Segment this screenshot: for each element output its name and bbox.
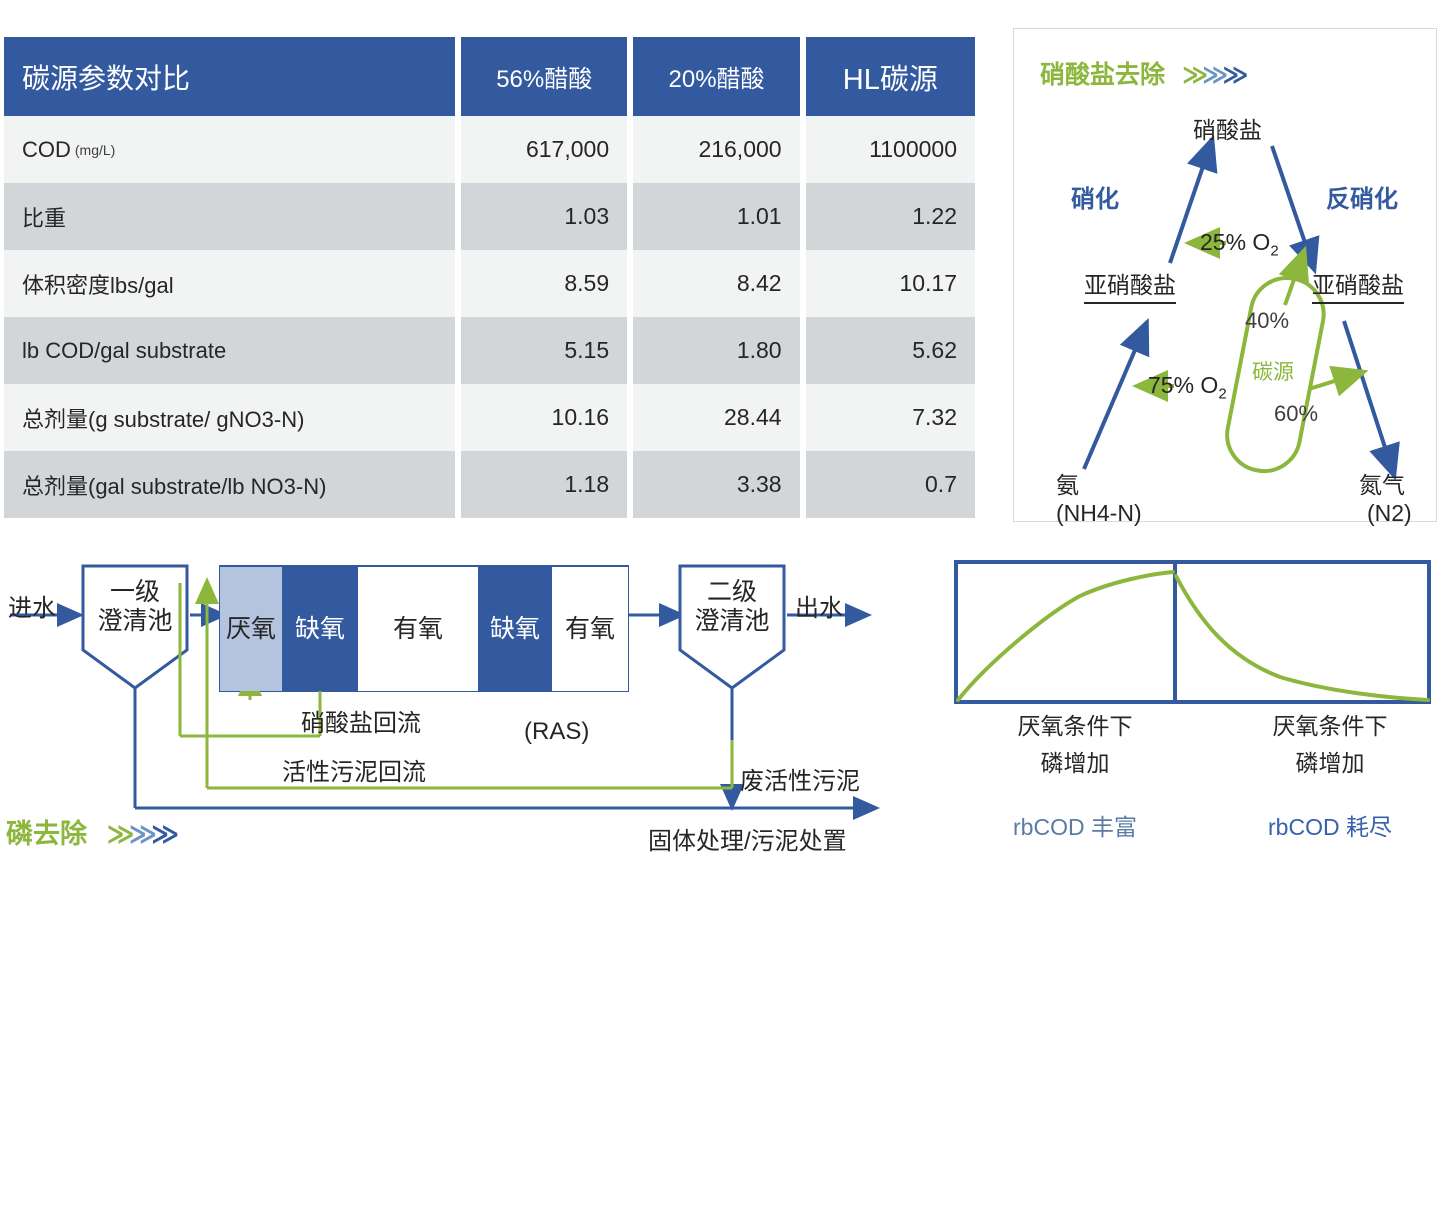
row-label-text: lb COD/gal substrate [22,338,226,364]
tank-aerobic-1: 有氧 [358,567,478,691]
table-row: 比重 1.03 1.01 1.22 [4,183,975,250]
table-header-col-2: HL碳源 [806,37,975,116]
nitrate-removal-panel: 硝酸盐去除 ≫≫≫ 硝酸盐 硝化 反硝化 亚硝酸 [1013,28,1437,522]
cell-value: 7.32 [806,384,975,451]
phosphorus-removal-title: 磷去除 ≫≫≫ [6,812,173,851]
label-influent: 进水 [8,588,56,623]
chart-caption-left-line1: 厌氧条件下 [975,708,1175,745]
row-label: 总剂量(g substrate/ gNO3-N) [4,384,455,451]
table-row: 总剂量(g substrate/ gNO3-N) 10.16 28.44 7.3… [4,384,975,451]
table-header-col-1: 20%醋酸 [633,37,799,116]
cell-value: 216,000 [633,116,799,183]
primary-clarifier-line2: 澄清池 [85,607,185,636]
chevron-group-icon: ≫≫≫ [107,819,174,850]
table-header-row: 碳源参数对比 56%醋酸 20%醋酸 HL碳源 [4,37,975,116]
node-nitrite-right: 亚硝酸盐 [1312,266,1404,304]
phosphorus-concentration-chart: 磷浓度 mg/L 厌氧条件下 磷增加 厌氧条件下 磷增加 rbCOD 丰富 rb… [900,540,1449,913]
carbon-percent-bottom: 60% [1274,401,1318,427]
tank-label: 有氧 [393,615,443,643]
table-row: 体积密度lbs/gal 8.59 8.42 10.17 [4,250,975,317]
tank-label: 缺氧 [490,615,540,643]
oxygen-fraction-top-text: 25% O [1200,229,1270,255]
label-ras: 活性污泥回流 [282,752,426,787]
chart-caption-right-line1: 厌氧条件下 [1230,708,1430,745]
oxygen-fraction-top: 25% O2 [1200,229,1279,260]
secondary-clarifier-label: 二级 澄清池 [682,578,782,636]
cell-value: 10.17 [806,250,975,317]
cell-value: 1100000 [806,116,975,183]
chevron-icon: ≫ [129,819,151,849]
row-label-text: 体积密度lbs/gal [22,268,174,300]
chart-caption-left-line2: 磷增加 [975,745,1175,782]
table-row: 总剂量(gal substrate/lb NO3-N) 1.18 3.38 0.… [4,451,975,518]
table-row: lb COD/gal substrate 5.15 1.80 5.62 [4,317,975,384]
cell-value: 1.22 [806,183,975,250]
oxygen-fraction-bottom: 75% O2 [1148,372,1227,403]
chart-sublabel-left: rbCOD 丰富 [975,808,1175,842]
tank-label: 厌氧 [226,615,276,643]
node-nitrate: 硝酸盐 [1193,111,1262,145]
oxygen-fraction-bottom-text: 75% O [1148,372,1218,398]
label-denitrification: 反硝化 [1326,179,1398,214]
secondary-clarifier-line2: 澄清池 [682,607,782,636]
node-nitrogen: 氮气 [1359,466,1405,500]
oxygen-subscript: 2 [1270,243,1278,260]
label-ras-abbr: (RAS) [524,718,589,746]
label-carbon-source: 碳源 [1252,356,1294,386]
cell-value: 10.16 [461,384,627,451]
tank-aerobic-2: 有氧 [552,567,628,691]
row-label-text: 比重 [22,201,66,233]
cell-value: 28.44 [633,384,799,451]
row-label-text: 总剂量(g substrate/ gNO3-N) [22,402,304,434]
chart-caption-right: 厌氧条件下 磷增加 [1230,708,1430,782]
node-ammonia-formula: (NH4-N) [1056,500,1142,527]
label-effluent: 出水 [795,588,843,623]
cell-value: 1.03 [461,183,627,250]
tank-label: 有氧 [565,615,615,643]
chart-caption-left: 厌氧条件下 磷增加 [975,708,1175,782]
row-label: COD (mg/L) [4,116,455,183]
row-label-text: COD [22,137,71,163]
cell-value: 0.7 [806,451,975,518]
tank-anoxic-2: 缺氧 [478,567,552,691]
label-waste-activated-sludge: 废活性污泥 [740,761,860,796]
node-ammonia: 氨 [1056,466,1079,500]
node-nitrogen-formula: (N2) [1367,500,1412,527]
row-label-unit: (mg/L) [75,142,115,158]
cell-value: 617,000 [461,116,627,183]
phosphorus-removal-title-text: 磷去除 [6,819,87,849]
node-nitrite-left: 亚硝酸盐 [1084,266,1176,304]
row-label-text: 总剂量(gal substrate/lb NO3-N) [22,469,326,501]
cell-value: 8.59 [461,250,627,317]
cell-value: 1.80 [633,317,799,384]
chart-caption-right-line2: 磷增加 [1230,745,1430,782]
table-header-title: 碳源参数对比 [4,37,455,116]
cell-value: 5.15 [461,317,627,384]
primary-clarifier-label: 一级 澄清池 [85,578,185,636]
cell-value: 5.62 [806,317,975,384]
primary-clarifier-line1: 一级 [85,578,185,607]
secondary-clarifier-line1: 二级 [682,578,782,607]
cell-value: 1.01 [633,183,799,250]
table-row: COD (mg/L) 617,000 216,000 1100000 [4,116,975,183]
label-nitrification: 硝化 [1071,179,1119,214]
oxygen-subscript: 2 [1218,386,1226,403]
cell-value: 1.18 [461,451,627,518]
cell-value: 8.42 [633,250,799,317]
row-label: 总剂量(gal substrate/lb NO3-N) [4,451,455,518]
carbon-source-parameter-table: 碳源参数对比 56%醋酸 20%醋酸 HL碳源 COD (mg/L) 617,0… [4,37,975,519]
chevron-icon: ≫ [107,819,129,849]
table-header-col-0: 56%醋酸 [461,37,627,116]
row-label: lb COD/gal substrate [4,317,455,384]
tank-anoxic-1: 缺氧 [282,567,358,691]
label-solids-handling: 固体处理/污泥处置 [648,821,847,856]
cell-value: 3.38 [633,451,799,518]
chart-sublabel-right: rbCOD 耗尽 [1230,808,1430,842]
carbon-percent-top: 40% [1245,308,1289,334]
tank-anaerobic: 厌氧 [220,567,282,691]
label-nitrate-recycle: 硝酸盐回流 [301,703,421,738]
chevron-icon: ≫ [151,819,173,849]
row-label: 体积密度lbs/gal [4,250,455,317]
row-label: 比重 [4,183,455,250]
process-flow-diagram: 厌氧 缺氧 有氧 缺氧 有氧 进水 出水 一级 澄清池 二级 澄清池 硝酸盐回流… [0,540,905,913]
tank-label: 缺氧 [295,615,345,643]
